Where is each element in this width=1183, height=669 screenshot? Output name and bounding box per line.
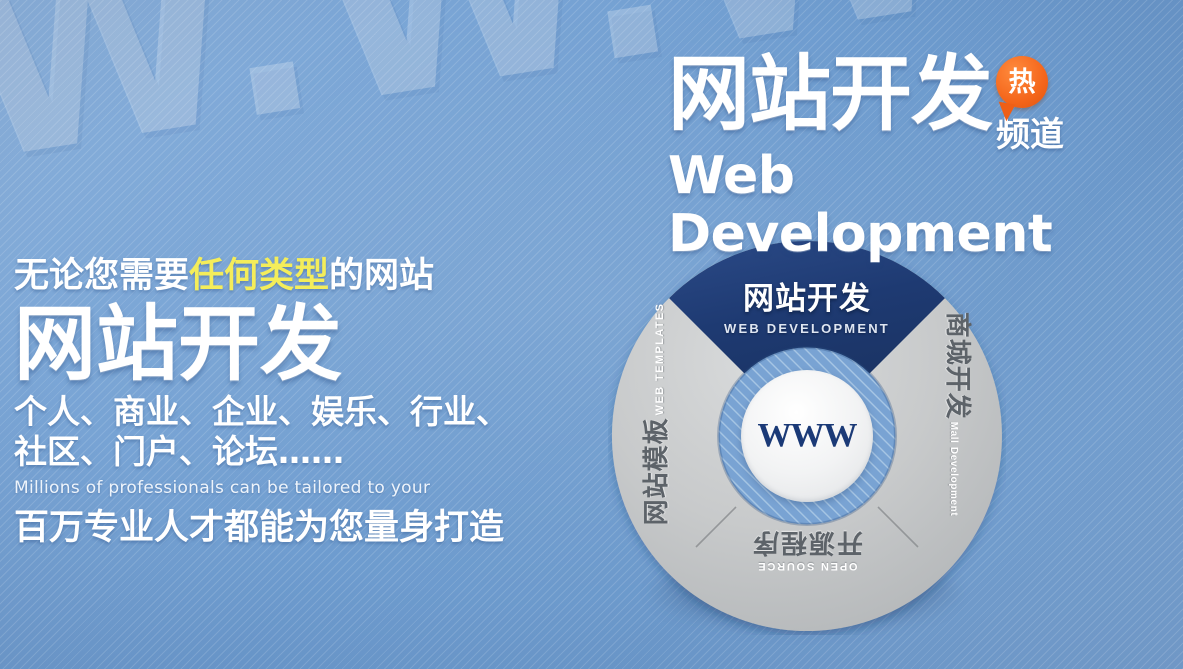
copy-lead-highlight: 任何类型: [189, 256, 329, 296]
copy-english-line: Millions of professionals can be tailore…: [14, 478, 614, 499]
copy-lead-line: 无论您需要任何类型的网站: [14, 255, 614, 297]
copy-lead-suffix: 的网站: [329, 256, 434, 296]
channel-headline: 网站开发 热 频道 Web Development: [668, 52, 1168, 263]
copy-tagline: 百万专业人才都能为您量身打造: [14, 507, 614, 549]
background-watermark: W.W.W: [0, 0, 740, 262]
headline-row: 网站开发 热 频道: [668, 52, 1168, 153]
headline-title-cn: 网站开发: [668, 52, 992, 138]
donut-hub: WWW: [741, 370, 873, 502]
hot-badge-label: 热: [1009, 69, 1036, 96]
copy-lead-prefix: 无论您需要: [14, 256, 189, 296]
copy-categories-line-2: 社区、门户、论坛……: [14, 433, 614, 471]
marketing-copy: 无论您需要任何类型的网站 网站开发 个人、商业、企业、娱乐、行业、 社区、门户、…: [14, 255, 614, 549]
headline-title-en: Web Development: [668, 147, 1168, 263]
headline-badge-column: 热 频道: [996, 52, 1064, 153]
web-development-banner: W.W.W: [0, 0, 1183, 669]
hub-label: WWW: [758, 417, 857, 455]
copy-categories-line-1: 个人、商业、企业、娱乐、行业、: [14, 393, 614, 431]
watermark-text: W.W.W: [0, 0, 731, 203]
hot-badge-icon: 热: [996, 56, 1048, 108]
services-donut-diagram: 网站开发 WEB DEVELOPMENT 网站模板 WEB TEMPLATES …: [608, 237, 1006, 635]
channel-label: 频道: [996, 117, 1064, 153]
copy-main-title: 网站开发: [14, 299, 614, 391]
